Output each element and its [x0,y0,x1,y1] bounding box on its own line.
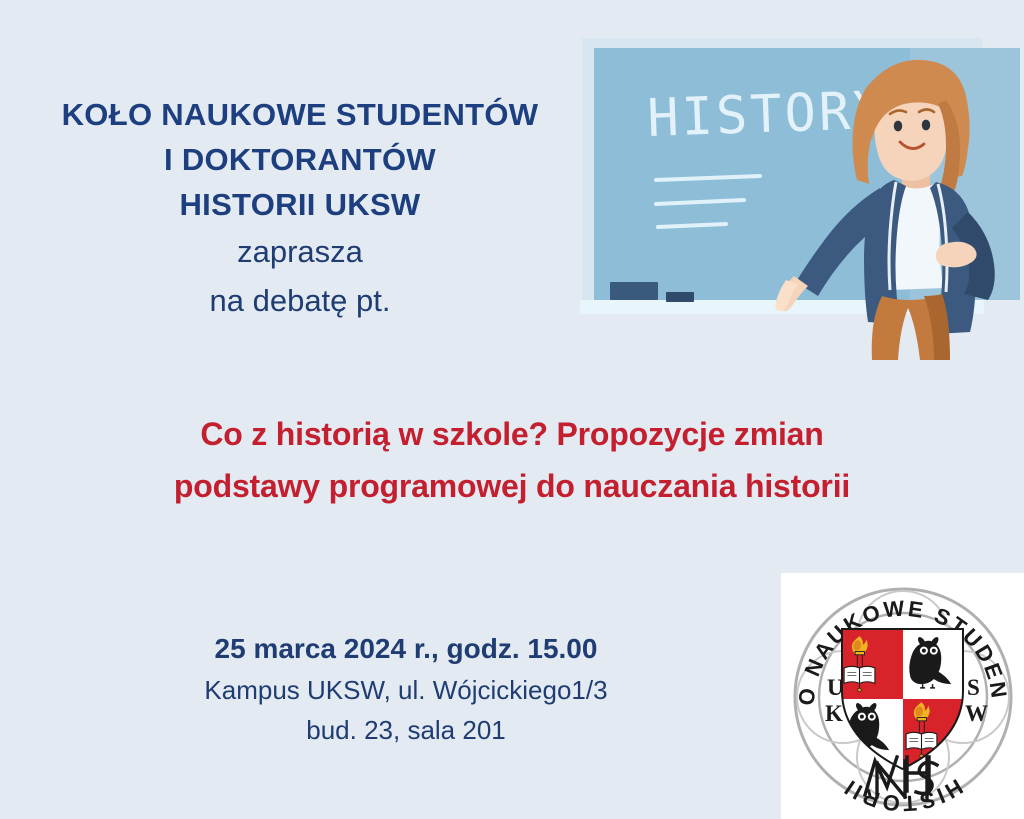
logo-letter-s: S [967,675,980,700]
teacher-chalkboard-illustration: HISTORY [580,30,1024,360]
debate-title: Co z historią w szkole? Propozycje zmian… [0,408,1024,512]
event-details-block: 25 marca 2024 r., godz. 15.00 Kampus UKS… [0,628,812,750]
header-text-block: KOŁO NAUKOWE STUDENTÓW I DOKTORANTÓW HIS… [0,92,600,325]
debate-title-line-1: Co z historią w szkole? Propozycje zmian [0,408,1024,460]
chalkboard-text: HISTORY [646,81,888,149]
logo-letter-u: U [827,675,844,700]
logo-letter-w: W [965,701,988,726]
header-line-5: na debatę pt. [0,276,600,325]
eraser-large [610,282,658,300]
logo-letter-k: K [825,701,843,726]
teacher-eye-right [922,120,930,131]
debate-title-line-2: podstawy programowej do nauczania histor… [0,460,1024,512]
shield-quarter-top-left [842,629,903,699]
poster-canvas: KOŁO NAUKOWE STUDENTÓW I DOKTORANTÓW HIS… [0,0,1024,819]
header-line-2: I DOKTORANTÓW [0,137,600,182]
event-room: bud. 23, sala 201 [0,710,812,750]
eraser-small [666,292,694,302]
knsh-logo: KOŁO NAUKOWE STUDENTÓW HISTORII [781,573,1024,819]
event-address: Kampus UKSW, ul. Wójcickiego1/3 [0,670,812,710]
teacher-eye-left [894,121,902,132]
header-line-1: KOŁO NAUKOWE STUDENTÓW [0,92,600,137]
header-line-3: HISTORII UKSW [0,182,600,227]
event-datetime: 25 marca 2024 r., godz. 15.00 [0,628,812,670]
header-line-4: zaprasza [0,227,600,276]
